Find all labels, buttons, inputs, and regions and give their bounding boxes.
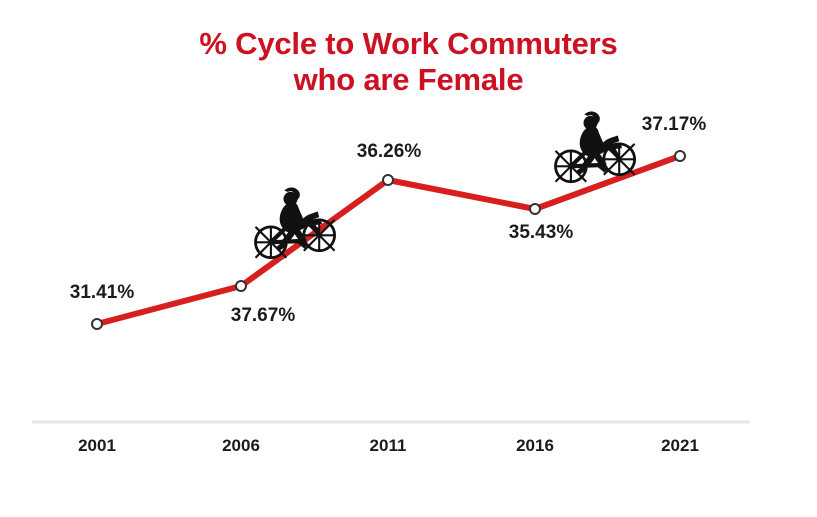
- x-tick-2021: 2021: [661, 436, 699, 456]
- data-label-2006: 37.67%: [231, 305, 295, 327]
- data-label-2011: 36.26%: [357, 141, 421, 163]
- data-point-marker-2011: [383, 175, 393, 185]
- x-tick-2011: 2011: [370, 436, 407, 456]
- data-label-2021: 37.17%: [642, 114, 706, 136]
- x-tick-2006: 2006: [222, 436, 260, 456]
- data-point-marker-2016: [530, 204, 540, 214]
- x-tick-2001: 2001: [78, 436, 116, 456]
- data-point-marker-2006: [236, 281, 246, 291]
- chart-container: % Cycle to Work Commuters who are Female…: [0, 0, 817, 517]
- cyclist-silhouette-1-icon: [252, 182, 336, 262]
- data-point-marker-2001: [92, 319, 102, 329]
- data-label-2016: 35.43%: [509, 222, 573, 244]
- data-point-marker-2021: [675, 151, 685, 161]
- x-tick-2016: 2016: [516, 436, 554, 456]
- data-label-2001: 31.41%: [70, 282, 134, 304]
- cyclist-silhouette-2-icon: [552, 106, 636, 186]
